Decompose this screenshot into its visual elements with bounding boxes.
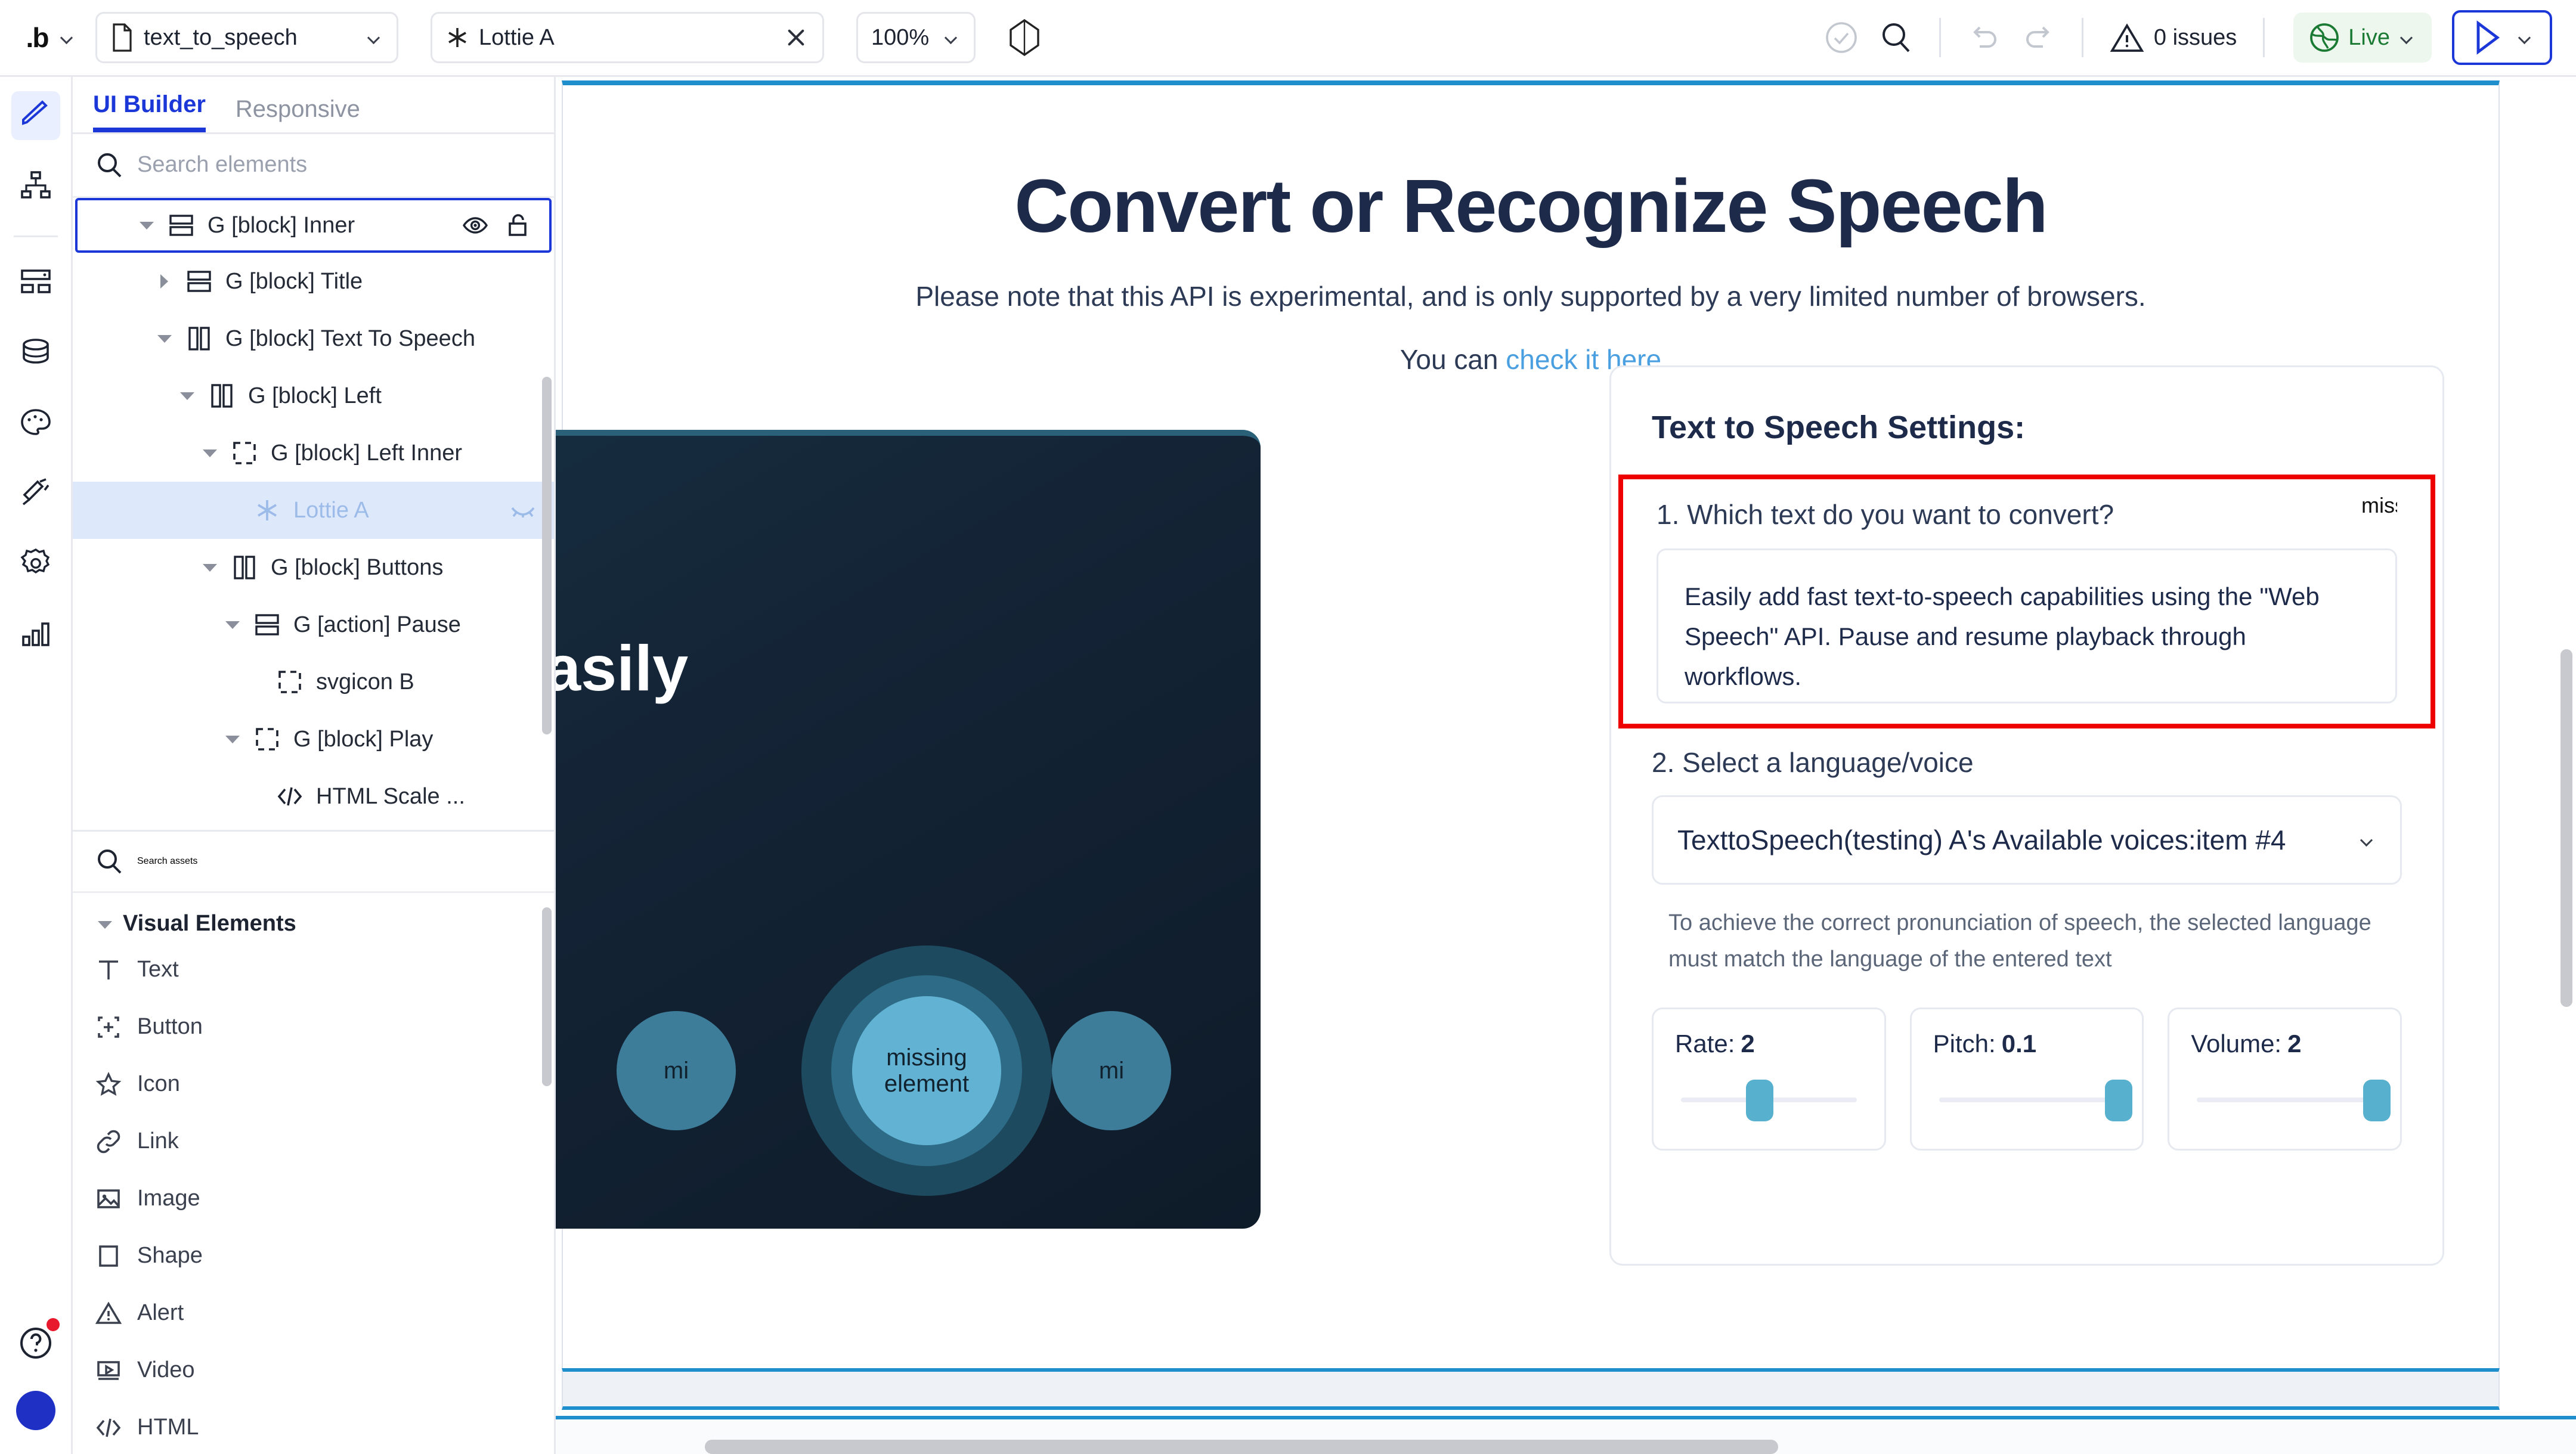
- element-search-row[interactable]: Search elements: [73, 134, 554, 199]
- slider-pitch-thumb[interactable]: [2105, 1080, 2132, 1121]
- voice-hint-text: To achieve the correct pronunciation of …: [1668, 905, 2385, 978]
- tab-name-label: Lottie A: [479, 25, 773, 51]
- slider-pitch-label: Pitch:0.1: [1933, 1030, 2121, 1058]
- issues-indicator[interactable]: 0 issues: [2099, 22, 2247, 53]
- code-icon: [95, 1415, 122, 1441]
- subtitle-prefix: You can: [1400, 344, 1506, 375]
- asset-item-html[interactable]: HTML: [73, 1399, 554, 1454]
- zoom-selector[interactable]: 100%: [856, 12, 976, 63]
- tree-row-label: svgicon B: [316, 669, 414, 695]
- chevron-down-icon[interactable]: [223, 616, 241, 634]
- convert-text-input[interactable]: Easily add fast text-to-speech capabilit…: [1657, 548, 2397, 703]
- dark-heading-line1: dd Speech: [556, 537, 1261, 625]
- chevron-down-icon[interactable]: [178, 387, 196, 405]
- chevron-down-icon[interactable]: [155, 330, 173, 348]
- chevron-right-icon[interactable]: [155, 272, 173, 290]
- chevron-down-icon[interactable]: [200, 444, 218, 462]
- tree-row-label: G [block] Buttons: [271, 555, 443, 581]
- file-chevron-down-icon[interactable]: [366, 29, 383, 46]
- rail-item-layout[interactable]: [11, 258, 60, 306]
- slider-volume-value: 2: [2287, 1030, 2301, 1058]
- dark-heading-line3: nd quickly!: [556, 712, 1261, 800]
- eye-icon[interactable]: [462, 212, 488, 238]
- slider-pitch: Pitch:0.1: [1910, 1007, 2144, 1151]
- dark-card-heading: dd Speech your App easily nd quickly!: [556, 537, 1261, 800]
- missing-element-badge: missing element: [2361, 495, 2397, 516]
- asterisk-icon: [254, 497, 280, 523]
- asset-item-image[interactable]: Image: [73, 1170, 554, 1227]
- question-1-label: 1. Which text do you want to convert?: [1657, 495, 2114, 531]
- block-cols-icon: [231, 554, 258, 581]
- search-assets-input[interactable]: Search assets: [137, 856, 197, 867]
- asset-item-label: Icon: [137, 1071, 180, 1097]
- tree-row-g-block-play[interactable]: G [block] Play: [73, 711, 554, 768]
- asset-item-link[interactable]: Link: [73, 1113, 554, 1170]
- asset-item-text[interactable]: Text: [73, 941, 554, 999]
- unlock-icon[interactable]: [505, 212, 531, 238]
- asset-item-shape[interactable]: Shape: [73, 1227, 554, 1285]
- two-column-section: dd Speech your App easily nd quickly! mi…: [563, 419, 2501, 1278]
- tree-row-label: G [block] Text To Speech: [225, 326, 475, 352]
- tree-row-label: G [block] Title: [225, 269, 363, 294]
- tree-scrollbar[interactable]: [542, 377, 552, 734]
- slider-rate-name: Rate:: [1675, 1030, 1735, 1058]
- tree-row-actions: [510, 497, 536, 523]
- link-icon: [95, 1129, 122, 1155]
- dashed-box-icon: [231, 440, 258, 466]
- chevron-down-icon[interactable]: [2358, 831, 2376, 849]
- search-elements-input[interactable]: Search elements: [137, 152, 307, 178]
- tree-row-g-block-inner[interactable]: G [block] Inner: [75, 198, 552, 253]
- dashed-box-icon: [277, 669, 303, 695]
- eye-off-icon[interactable]: [510, 497, 536, 523]
- tree-row-html-scale[interactable]: HTML Scale ...: [73, 768, 554, 825]
- tree-row-actions: [462, 212, 531, 238]
- tree-row-label: G [block] Left: [248, 383, 382, 409]
- run-button[interactable]: [2452, 10, 2552, 65]
- slider-volume-thumb[interactable]: [2363, 1080, 2391, 1121]
- canvas-area: Convert or Recognize Speech Please note …: [556, 77, 2576, 1454]
- settings-title: Text to Speech Settings:: [1611, 367, 2442, 446]
- search-icon[interactable]: [1869, 10, 1924, 65]
- code-icon: [277, 783, 303, 810]
- asset-item-label: Text: [137, 957, 179, 982]
- slider-volume: Volume:2: [2168, 1007, 2402, 1151]
- toolbar-divider-2: [2082, 18, 2083, 57]
- dashed-box-icon: [254, 726, 280, 752]
- assets-scrollbar[interactable]: [542, 907, 552, 1086]
- brand-logo[interactable]: .b: [21, 21, 52, 54]
- tree-row-label: Lottie A: [293, 498, 369, 523]
- question-1-selection-block: 1. Which text do you want to convert? mi…: [1618, 475, 2435, 728]
- page-title: Convert or Recognize Speech: [563, 163, 2498, 249]
- tree-row-g-action-pause[interactable]: G [action] Pause: [73, 596, 554, 653]
- slider-pitch-track[interactable]: [1939, 1098, 2115, 1102]
- globe-icon: [2309, 22, 2340, 53]
- help-notification-dot: [47, 1318, 60, 1331]
- slider-pitch-value: 0.1: [2002, 1030, 2036, 1058]
- slider-volume-name: Volume:: [2191, 1030, 2281, 1058]
- tree-row-label: G [block] Inner: [208, 213, 355, 238]
- help-button[interactable]: [14, 1320, 57, 1363]
- tab-ui-builder[interactable]: UI Builder: [93, 91, 206, 132]
- tree-row-label: G [block] Play: [293, 727, 433, 752]
- slider-rate-thumb[interactable]: [1746, 1080, 1773, 1121]
- rail-item-database[interactable]: [11, 328, 60, 377]
- rail-item-palette[interactable]: [11, 398, 60, 447]
- button-icon: [95, 1014, 122, 1040]
- slider-rate-label: Rate:2: [1675, 1030, 1863, 1058]
- star-icon: [445, 26, 469, 49]
- tree-row-g-block-title[interactable]: G [block] Title: [73, 253, 554, 310]
- star-icon: [95, 1071, 122, 1098]
- tree-row-lottie-a[interactable]: Lottie A: [73, 482, 554, 539]
- block-rows-icon: [168, 212, 194, 238]
- asset-item-icon[interactable]: Icon: [73, 1056, 554, 1113]
- blob-left: mi: [617, 1011, 736, 1130]
- live-chevron-down-icon[interactable]: [2398, 29, 2416, 46]
- text-icon: [95, 957, 122, 983]
- left-icon-rail: [0, 77, 73, 1454]
- tree-row-label: HTML Scale ...: [316, 784, 465, 810]
- asset-item-alert[interactable]: Alert: [73, 1285, 554, 1342]
- image-icon: [95, 1186, 122, 1212]
- asset-item-label: HTML: [137, 1415, 199, 1440]
- blob-center: missing element: [852, 996, 1001, 1145]
- play-icon: [2470, 20, 2503, 55]
- text-to-speech-settings-card: Text to Speech Settings: 1. Which text d…: [1609, 365, 2444, 1266]
- asset-item-label: Link: [137, 1129, 179, 1154]
- block-cols-icon: [186, 325, 212, 352]
- page-subtitle-line1: Please note that this API is experimenta…: [563, 280, 2498, 312]
- tree-row-g-block-left[interactable]: G [block] Left: [73, 367, 554, 424]
- avatar[interactable]: [16, 1391, 55, 1430]
- assets-group-label: Visual Elements: [123, 911, 296, 937]
- tree-row-svgicon-b[interactable]: svgicon B: [73, 653, 554, 711]
- undo-icon[interactable]: [1956, 10, 2011, 65]
- tree-row-label: G [block] Left Inner: [271, 441, 462, 466]
- page-footer-strip: [562, 1368, 2500, 1410]
- slider-rate-value: 2: [1741, 1030, 1754, 1058]
- cube-icon[interactable]: [997, 10, 1052, 65]
- canvas-horizontal-scrollbar[interactable]: [705, 1440, 1778, 1454]
- search-icon: [95, 848, 123, 875]
- question-1-row: 1. Which text do you want to convert? mi…: [1657, 495, 2397, 531]
- close-icon[interactable]: [783, 24, 809, 51]
- chevron-down-icon[interactable]: [223, 730, 241, 748]
- block-rows-icon: [186, 268, 212, 294]
- tree-toggle-placeholder: [223, 501, 241, 519]
- toolbar-divider-3: [2263, 18, 2265, 57]
- alert-icon: [95, 1300, 122, 1326]
- asset-item-label: Button: [137, 1014, 203, 1040]
- chevron-down-icon[interactable]: [200, 559, 218, 576]
- assets-group-visual-elements[interactable]: Visual Elements: [73, 893, 554, 941]
- tree-row-g-block-text-to-speech[interactable]: G [block] Text To Speech: [73, 310, 554, 367]
- asset-list: Visual Elements TextButtonIconLinkImageS…: [73, 893, 554, 1454]
- chevron-down-icon: [95, 916, 111, 931]
- dark-heading-line2: your App easily: [556, 625, 1261, 712]
- slider-group: Rate:2 Pitch:0.1 Volume:: [1652, 1007, 2402, 1151]
- tree-toggle-placeholder: [246, 788, 264, 805]
- redo-icon[interactable]: [2011, 10, 2066, 65]
- page-preview-frame: Convert or Recognize Speech Please note …: [562, 80, 2500, 1368]
- top-toolbar: .b text_to_speech Lottie A 100%: [0, 0, 2576, 77]
- rail-item-gear[interactable]: [11, 539, 60, 588]
- live-environment-selector[interactable]: Live: [2293, 13, 2432, 63]
- rail-divider: [14, 235, 58, 237]
- blob-right: mi: [1052, 1011, 1171, 1130]
- slider-volume-track[interactable]: [2197, 1098, 2373, 1102]
- slider-rate: Rate:2: [1652, 1007, 1886, 1151]
- search-icon: [95, 151, 123, 179]
- run-chevron-down-icon[interactable]: [2516, 29, 2534, 46]
- voice-select-value: TexttoSpeech(testing) A's Available voic…: [1677, 824, 2358, 856]
- zoom-chevron-down-icon[interactable]: [943, 29, 961, 46]
- slider-pitch-name: Pitch:: [1933, 1030, 1996, 1058]
- video-icon: [95, 1357, 122, 1384]
- file-icon: [110, 23, 134, 52]
- tree-row-label: G [action] Pause: [293, 612, 461, 638]
- tab-responsive[interactable]: Responsive: [236, 96, 360, 132]
- block-cols-icon: [209, 383, 235, 409]
- panel-tabs: UI Builder Responsive: [73, 77, 554, 134]
- warning-icon: [2110, 22, 2144, 53]
- asset-search-row[interactable]: Search assets: [73, 830, 554, 893]
- tree-toggle-placeholder: [246, 673, 264, 691]
- file-name-label: text_to_speech: [144, 25, 356, 51]
- asset-item-label: Alert: [137, 1300, 184, 1326]
- shape-icon: [95, 1243, 122, 1269]
- tree-row-g-block-buttons[interactable]: G [block] Buttons: [73, 539, 554, 596]
- asset-item-button[interactable]: Button: [73, 999, 554, 1056]
- live-label: Live: [2348, 25, 2390, 51]
- asset-item-label: Image: [137, 1186, 200, 1211]
- asset-item-video[interactable]: Video: [73, 1342, 554, 1399]
- element-tree: G [block] InnerG [block] TitleG [block] …: [73, 198, 554, 830]
- asset-item-label: Video: [137, 1357, 195, 1383]
- file-selector[interactable]: text_to_speech: [95, 12, 398, 63]
- tree-row-g-block-left-inner[interactable]: G [block] Left Inner: [73, 424, 554, 482]
- lottie-dark-card: dd Speech your App easily nd quickly! mi…: [556, 430, 1261, 1229]
- question-2-label: 2. Select a language/voice: [1611, 728, 2442, 779]
- slider-volume-label: Volume:2: [2191, 1030, 2379, 1058]
- rail-item-sitemap[interactable]: [11, 162, 60, 210]
- check-circle-icon[interactable]: [1814, 10, 1869, 65]
- rail-item-plug[interactable]: [11, 469, 60, 517]
- rail-item-pencil[interactable]: [11, 91, 60, 140]
- canvas-vertical-scrollbar[interactable]: [2560, 649, 2572, 1007]
- lottie-blobs: mi missing element mi: [556, 948, 1261, 1199]
- issues-count-label: 0 issues: [2154, 25, 2237, 51]
- left-panel: UI Builder Responsive Search elements G …: [73, 77, 556, 1454]
- open-tab-lottie-a[interactable]: Lottie A: [431, 12, 824, 63]
- asset-item-label: Shape: [137, 1243, 203, 1269]
- rail-item-bar-chart[interactable]: [11, 609, 60, 658]
- brand-chevron-down-icon[interactable]: [58, 29, 76, 46]
- chevron-down-icon[interactable]: [137, 216, 155, 234]
- toolbar-divider: [1939, 18, 1941, 57]
- zoom-level-label: 100%: [871, 25, 933, 51]
- voice-select[interactable]: TexttoSpeech(testing) A's Available voic…: [1652, 795, 2402, 885]
- block-rows-icon: [254, 612, 280, 638]
